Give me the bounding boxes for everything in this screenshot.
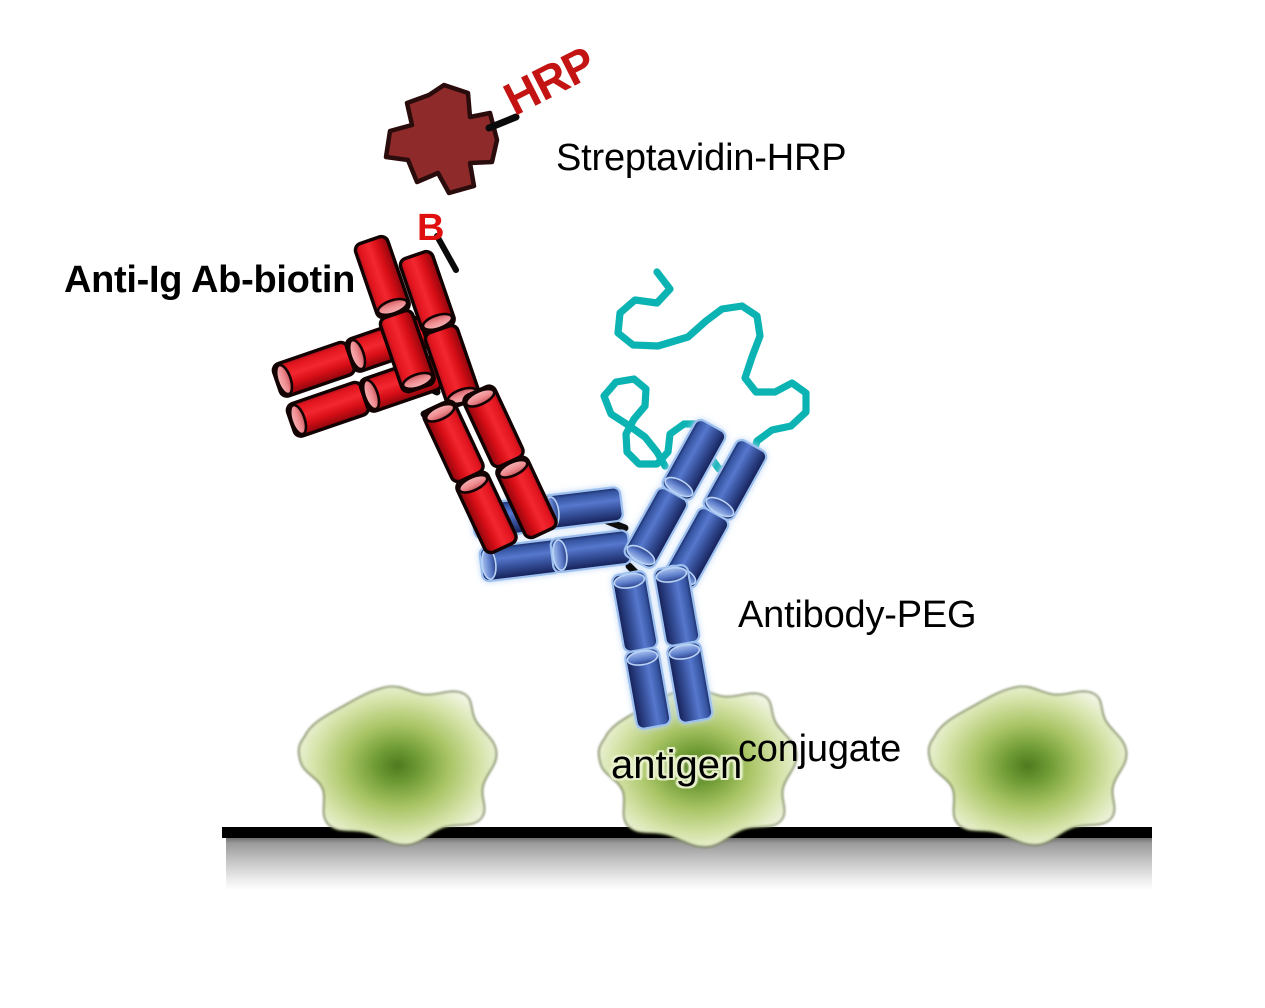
antibody-peg-conjugate-label-line1: Antibody-PEG — [738, 593, 976, 638]
antibody-peg-conjugate-label: Antibody-PEG conjugate — [738, 503, 976, 862]
blue-domain-stem-left-upper — [611, 570, 658, 653]
blue-domain-arm-left-lower-inner — [550, 530, 632, 573]
substrate-shadow — [226, 838, 1152, 890]
streptavidin-hrp-label: Streptavidin-HRP — [556, 136, 846, 181]
antigen-blob-left — [299, 686, 497, 844]
figure-canvas: HRP B Streptavidin-HRP Anti-Ig Ab-biotin… — [0, 0, 1265, 1008]
biotin-label: B — [417, 206, 444, 251]
antigen-label: antigen — [611, 742, 742, 789]
streptavidin-molecule — [386, 85, 516, 193]
anti-ig-ab-biotin-label: Anti-Ig Ab-biotin — [64, 258, 355, 303]
streptavidin-cross-shape — [386, 85, 497, 193]
antibody-peg-conjugate-label-line2: conjugate — [738, 727, 976, 772]
